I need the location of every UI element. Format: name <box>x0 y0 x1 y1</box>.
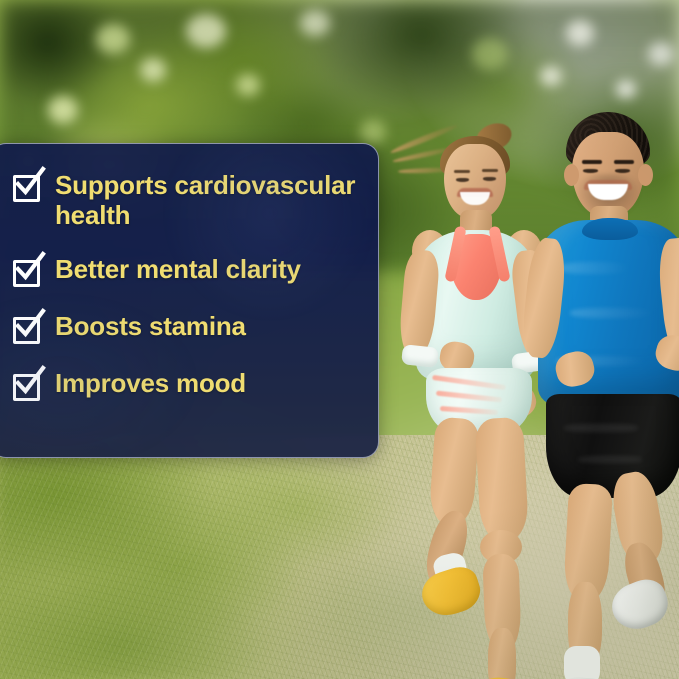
benefit-label: Better mental clarity <box>55 255 301 285</box>
man-collar <box>582 218 638 240</box>
bokeh-highlight <box>472 38 508 70</box>
bokeh-highlight <box>48 96 78 124</box>
checkbox-checked-icon <box>13 175 40 202</box>
woman-face <box>444 144 506 218</box>
man-runner <box>520 112 679 622</box>
man-eye <box>615 169 630 173</box>
bokeh-highlight <box>540 66 562 86</box>
benefits-card: Supports cardiovascular health Better me… <box>0 143 379 458</box>
benefit-label: Boosts stamina <box>55 312 246 342</box>
man-shorts <box>546 394 679 498</box>
bokeh-highlight <box>616 80 636 98</box>
check-mark-icon <box>11 167 49 205</box>
man-shirt-fold <box>560 262 630 274</box>
woman-wristband-left <box>401 344 439 368</box>
man-shirt-fold <box>570 308 654 318</box>
benefit-item: Improves mood <box>13 369 364 401</box>
screenshot-stage: Supports cardiovascular health Better me… <box>0 0 679 679</box>
man-eyebrow <box>614 160 634 164</box>
check-mark-icon <box>11 309 49 347</box>
man-ear <box>564 164 579 186</box>
woman-eye <box>456 178 469 182</box>
bokeh-highlight <box>140 58 166 82</box>
man-shorts-fold <box>578 456 642 463</box>
man-sock-left <box>564 646 600 679</box>
check-mark-icon <box>11 366 49 404</box>
woman-eye <box>483 177 496 181</box>
man-eyebrow <box>582 160 602 164</box>
benefit-label: Improves mood <box>55 369 246 399</box>
benefit-item: Boosts stamina <box>13 312 364 344</box>
bokeh-highlight <box>300 10 330 36</box>
man-ear <box>638 164 653 186</box>
benefit-item: Supports cardiovascular health <box>13 170 364 230</box>
check-mark-icon <box>11 252 49 290</box>
bokeh-highlight <box>360 120 386 144</box>
benefit-label: Supports cardiovascular health <box>55 170 364 230</box>
bokeh-highlight <box>566 20 594 46</box>
man-shorts-fold <box>564 424 638 432</box>
checkbox-checked-icon <box>13 317 40 344</box>
checkbox-checked-icon <box>13 374 40 401</box>
woman-eyebrow <box>482 169 498 172</box>
bokeh-highlight <box>186 14 226 48</box>
man-eye <box>583 169 598 173</box>
woman-shin-right <box>488 628 516 679</box>
checkbox-checked-icon <box>13 260 40 287</box>
bokeh-highlight <box>236 74 260 96</box>
woman-eyebrow <box>454 170 470 173</box>
benefits-list: Supports cardiovascular health Better me… <box>13 170 364 401</box>
bokeh-highlight <box>648 42 674 66</box>
bokeh-highlight <box>96 24 130 54</box>
benefit-item: Better mental clarity <box>13 255 364 287</box>
